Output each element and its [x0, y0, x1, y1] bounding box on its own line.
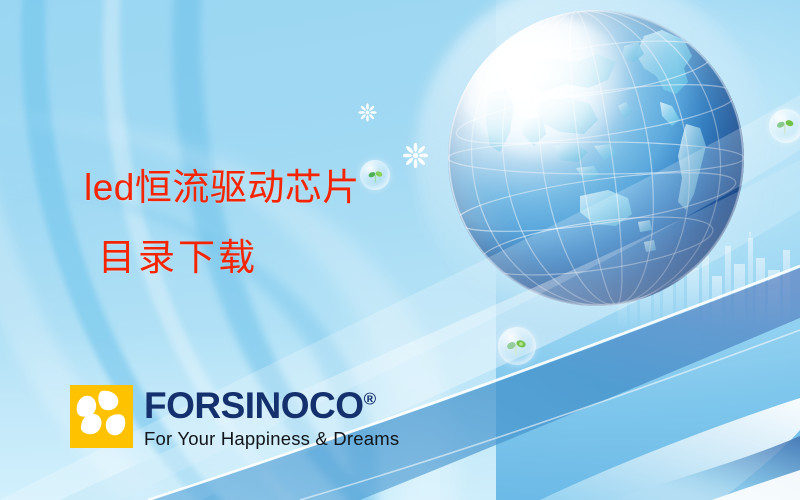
logo-wordmark: FORSINOCO®	[144, 387, 399, 424]
earth-globe	[448, 10, 744, 306]
leaf-sprout-icon	[367, 167, 384, 184]
logo-tagline: For Your Happiness & Dreams	[144, 428, 399, 450]
pinwheel-petals-icon	[70, 385, 133, 448]
globe-rim-light	[448, 10, 744, 306]
promo-banner: led恒流驱动芯片 目录下载 FORSINOCO® For Your Happi…	[0, 0, 800, 500]
bubble-eco-center	[498, 327, 536, 365]
headline: led恒流驱动芯片 目录下载	[84, 166, 360, 279]
sparkle-flower-a	[358, 103, 377, 122]
registered-trademark-icon: ®	[364, 390, 376, 409]
brand-logo: FORSINOCO® For Your Happiness & Dreams	[70, 385, 399, 450]
logo-text-block: FORSINOCO® For Your Happiness & Dreams	[144, 385, 399, 450]
leaf-sprout-icon	[506, 335, 527, 356]
globe-sphere	[448, 10, 744, 306]
headline-line-2: 目录下载	[98, 236, 360, 280]
bubble-eco-right	[769, 109, 800, 143]
leaf-sprout-icon	[776, 116, 795, 135]
bubble-eco-left	[360, 160, 390, 190]
logo-wordmark-text: FORSINOCO	[144, 385, 364, 426]
headline-line-1: led恒流驱动芯片	[84, 166, 360, 210]
forsinoco-pinwheel-mark	[70, 385, 133, 448]
sparkle-flower-b	[403, 143, 428, 168]
